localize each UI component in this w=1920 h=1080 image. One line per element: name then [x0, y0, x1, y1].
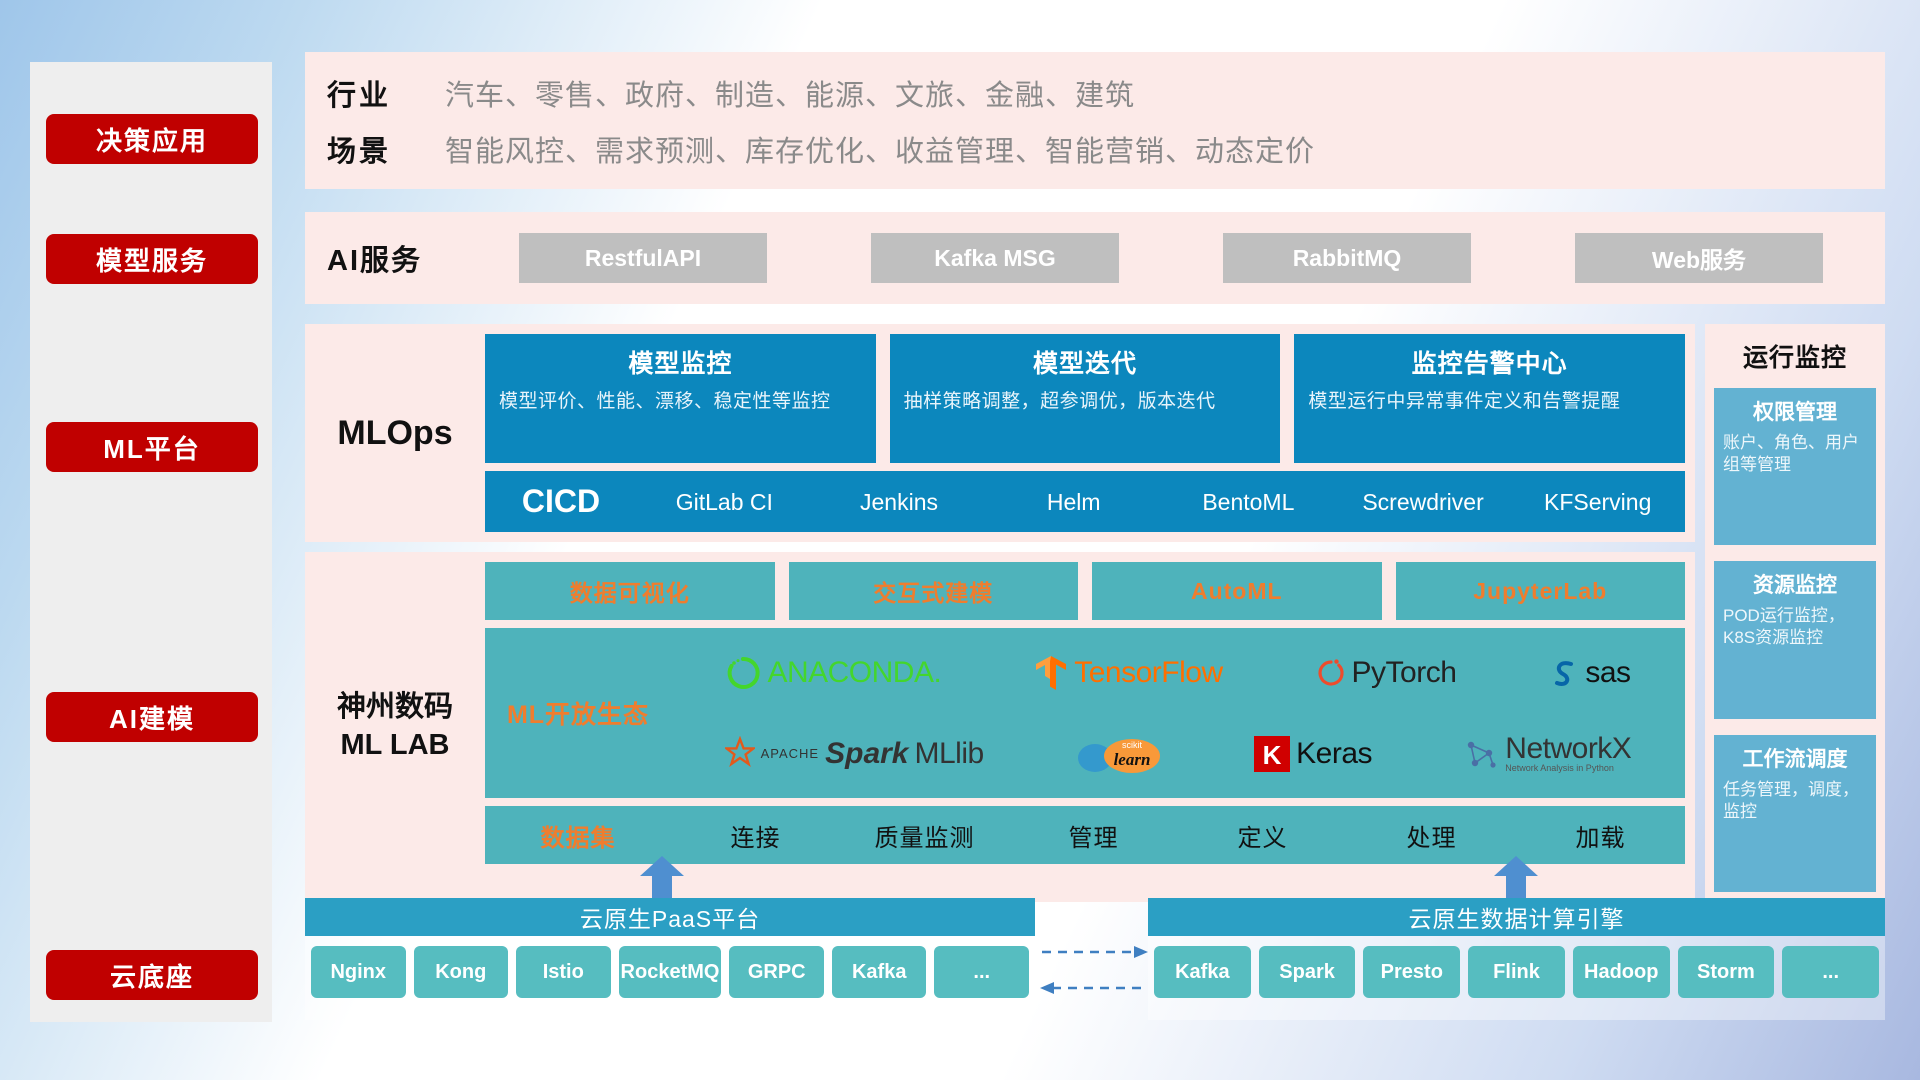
dataset-label: 数据集: [485, 818, 671, 853]
ml-ecosystem-label: ML开放生态: [485, 695, 671, 731]
ai-service-band: AI服务 RestfulAPI Kafka MSG RabbitMQ Web服务: [305, 212, 1885, 304]
service-chip-restfulapi[interactable]: RestfulAPI: [519, 233, 767, 283]
service-chip-label: RabbitMQ: [1293, 245, 1402, 272]
spark-apache-text: APACHE: [761, 746, 820, 761]
ml-lab-label: 神州数码 ML LAB: [305, 552, 485, 902]
cloud-chip-nginx[interactable]: Nginx: [311, 946, 406, 998]
dataset-item-connect[interactable]: 连接: [671, 818, 840, 853]
cloud-chip-more[interactable]: ...: [934, 946, 1029, 998]
card-desc: POD运行监控，K8S资源监控: [1723, 605, 1867, 649]
scenario-value: 智能风控、需求预测、库存优化、收益管理、智能营销、动态定价: [445, 128, 1315, 170]
cloud-data-engine-title: 云原生数据计算引擎: [1148, 898, 1885, 936]
cicd-item-screwdriver[interactable]: Screwdriver: [1336, 490, 1511, 514]
scikit-learn-icon: scikit learn: [1075, 732, 1163, 776]
keras-logo-text: Keras: [1296, 737, 1372, 771]
mllib-logo-text: MLlib: [915, 737, 984, 771]
dataset-item-load[interactable]: 加载: [1516, 818, 1685, 853]
rail-item-label: 决策应用: [96, 121, 208, 158]
card-title: 模型监控: [499, 344, 862, 380]
spark-mllib-logo: APACHE Spark MLlib: [725, 736, 984, 772]
rail-item-ml-platform[interactable]: ML平台: [46, 422, 258, 472]
cloud-chip-kong[interactable]: Kong: [414, 946, 509, 998]
rail-item-label: 模型服务: [96, 241, 208, 278]
industry-value: 汽车、零售、政府、制造、能源、文旅、金融、建筑: [445, 72, 1135, 114]
engine-chip-storm[interactable]: Storm: [1678, 946, 1775, 998]
networkx-tagline: Network Analysis in Python: [1505, 764, 1631, 773]
card-desc: 账户、角色、用户组等管理: [1723, 432, 1867, 476]
card-desc: 模型运行中异常事件定义和告警提醒: [1308, 389, 1671, 415]
mlops-band: MLOps 模型监控 模型评价、性能、漂移、稳定性等监控 模型迭代 抽样策略调整…: [305, 324, 1695, 542]
scikit-learn-logo: scikit learn: [1075, 732, 1163, 776]
anaconda-icon: [725, 655, 761, 691]
rail-item-label: AI建模: [109, 699, 195, 736]
ml-lab-label-line2: ML LAB: [337, 727, 453, 765]
application-band: 行业 汽车、零售、政府、制造、能源、文旅、金融、建筑 场景 智能风控、需求预测、…: [305, 52, 1885, 189]
card-title: 权限管理: [1723, 396, 1867, 426]
cicd-item-gitlab-ci[interactable]: GitLab CI: [637, 490, 812, 514]
pytorch-logo-text: PyTorch: [1352, 656, 1457, 690]
svg-text:scikit: scikit: [1122, 740, 1142, 750]
monitor-card-permission[interactable]: 权限管理 账户、角色、用户组等管理: [1714, 388, 1876, 545]
cicd-item-helm[interactable]: Helm: [986, 490, 1161, 514]
cicd-item-jenkins[interactable]: Jenkins: [812, 490, 987, 514]
service-chip-kafka-msg[interactable]: Kafka MSG: [871, 233, 1119, 283]
networkx-logo-text: NetworkX: [1505, 734, 1631, 764]
monitor-panel-title: 运行监控: [1714, 338, 1876, 374]
scenario-row: 场景 智能风控、需求预测、库存优化、收益管理、智能营销、动态定价: [327, 128, 1885, 170]
rail-item-cloud-base[interactable]: 云底座: [46, 950, 258, 1000]
industry-row: 行业 汽车、零售、政府、制造、能源、文旅、金融、建筑: [327, 72, 1885, 114]
monitor-card-resource[interactable]: 资源监控 POD运行监控，K8S资源监控: [1714, 561, 1876, 718]
cicd-title: CICD: [485, 483, 637, 520]
service-chip-rabbitmq[interactable]: RabbitMQ: [1223, 233, 1471, 283]
ml-lab-band: 神州数码 ML LAB 数据可视化 交互式建模 AutoML JupyterLa…: [305, 552, 1695, 902]
spark-wordmark: Spark: [825, 737, 908, 771]
card-title: 监控告警中心: [1308, 344, 1671, 380]
rail-item-decision-app[interactable]: 决策应用: [46, 114, 258, 164]
cloud-paas-title: 云原生PaaS平台: [305, 898, 1035, 936]
sas-icon: [1549, 656, 1579, 690]
cicd-item-bentoml[interactable]: BentoML: [1161, 490, 1336, 514]
engine-chip-flink[interactable]: Flink: [1468, 946, 1565, 998]
service-chip-label: Kafka MSG: [934, 245, 1055, 272]
industry-label: 行业: [327, 72, 445, 114]
svg-text:learn: learn: [1114, 750, 1151, 769]
svg-text:K: K: [1263, 740, 1282, 770]
lab-tab-automl[interactable]: AutoML: [1092, 562, 1382, 620]
up-arrow-icon-right: [1494, 856, 1538, 898]
ai-service-label: AI服务: [327, 237, 467, 279]
bidirectional-dashed-link-icon: [1040, 940, 1148, 998]
mlops-card-alert-center[interactable]: 监控告警中心 模型运行中异常事件定义和告警提醒: [1294, 334, 1685, 463]
sas-logo: sas: [1549, 656, 1630, 690]
mlops-card-model-iteration[interactable]: 模型迭代 抽样策略调整，超参调优，版本迭代: [890, 334, 1281, 463]
dataset-item-process[interactable]: 处理: [1347, 818, 1516, 853]
service-chip-web-service[interactable]: Web服务: [1575, 233, 1823, 283]
tensorflow-icon: [1034, 654, 1068, 692]
card-title: 资源监控: [1723, 569, 1867, 599]
card-title: 工作流调度: [1723, 743, 1867, 773]
anaconda-logo-text: ANACONDA.: [767, 656, 941, 690]
cloud-data-engine-group: 云原生数据计算引擎 Kafka Spark Presto Flink Hadoo…: [1148, 898, 1885, 1020]
cloud-chip-istio[interactable]: Istio: [516, 946, 611, 998]
networkx-icon: [1463, 736, 1499, 772]
sas-logo-text: sas: [1585, 656, 1630, 690]
runtime-monitor-panel: 运行监控 权限管理 账户、角色、用户组等管理 资源监控 POD运行监控，K8S资…: [1705, 324, 1885, 902]
card-desc: 模型评价、性能、漂移、稳定性等监控: [499, 389, 862, 415]
ml-ecosystem-row: ML开放生态 ANACONDA.: [485, 628, 1685, 798]
scenario-label: 场景: [327, 128, 445, 170]
cloud-chip-grpc[interactable]: GRPC: [729, 946, 824, 998]
card-desc: 任务管理，调度，监控: [1723, 779, 1867, 823]
pytorch-icon: [1316, 656, 1346, 690]
anaconda-logo: ANACONDA.: [725, 655, 941, 691]
mlops-card-model-monitoring[interactable]: 模型监控 模型评价、性能、漂移、稳定性等监控: [485, 334, 876, 463]
spark-star-icon: [725, 736, 755, 772]
tensorflow-logo-text: TensorFlow: [1074, 656, 1222, 690]
dataset-item-manage[interactable]: 管理: [1009, 818, 1178, 853]
lab-tab-data-visualization[interactable]: 数据可视化: [485, 562, 775, 620]
networkx-logo: NetworkX Network Analysis in Python: [1463, 734, 1631, 773]
dataset-item-quality[interactable]: 质量监测: [840, 818, 1009, 853]
monitor-card-workflow[interactable]: 工作流调度 任务管理，调度，监控: [1714, 735, 1876, 892]
ml-lab-label-line1: 神州数码: [337, 689, 453, 727]
rail-item-ai-modeling[interactable]: AI建模: [46, 692, 258, 742]
engine-chip-kafka[interactable]: Kafka: [1154, 946, 1251, 998]
layer-rail: 决策应用 模型服务 ML平台 AI建模 云底座: [30, 62, 272, 1022]
cloud-chip-rocketmq[interactable]: RocketMQ: [619, 946, 722, 998]
rail-item-label: ML平台: [103, 429, 201, 466]
dataset-item-define[interactable]: 定义: [1178, 818, 1347, 853]
card-desc: 抽样策略调整，超参调优，版本迭代: [904, 389, 1267, 415]
pytorch-logo: PyTorch: [1316, 656, 1457, 690]
keras-icon: K: [1254, 736, 1290, 772]
up-arrow-icon-left: [640, 856, 684, 898]
engine-chip-presto[interactable]: Presto: [1363, 946, 1460, 998]
card-title: 模型迭代: [904, 344, 1267, 380]
logo-line-1: ANACONDA. TensorFlow: [679, 634, 1677, 711]
rail-item-model-service[interactable]: 模型服务: [46, 234, 258, 284]
lab-tab-jupyterlab[interactable]: JupyterLab: [1396, 562, 1686, 620]
mlops-label: MLOps: [305, 324, 485, 542]
cloud-chip-kafka[interactable]: Kafka: [832, 946, 927, 998]
keras-logo: K Keras: [1254, 736, 1372, 772]
tensorflow-logo: TensorFlow: [1034, 654, 1222, 692]
engine-chip-more[interactable]: ...: [1782, 946, 1879, 998]
architecture-diagram: 决策应用 模型服务 ML平台 AI建模 云底座 行业 汽车、零售、政府、制造、能…: [0, 0, 1920, 1080]
cicd-bar: CICD GitLab CI Jenkins Helm BentoML Scre…: [485, 471, 1685, 532]
lab-tab-interactive-modeling[interactable]: 交互式建模: [789, 562, 1079, 620]
service-chip-label: Web服务: [1652, 241, 1746, 275]
engine-chip-spark[interactable]: Spark: [1259, 946, 1356, 998]
service-chip-label: RestfulAPI: [585, 245, 701, 272]
rail-item-label: 云底座: [110, 957, 194, 994]
logo-line-2: APACHE Spark MLlib scikit learn: [679, 715, 1677, 792]
engine-chip-hadoop[interactable]: Hadoop: [1573, 946, 1670, 998]
cicd-item-kfserving[interactable]: KFServing: [1510, 490, 1685, 514]
cloud-paas-group: 云原生PaaS平台 Nginx Kong Istio RocketMQ GRPC…: [305, 898, 1035, 1020]
